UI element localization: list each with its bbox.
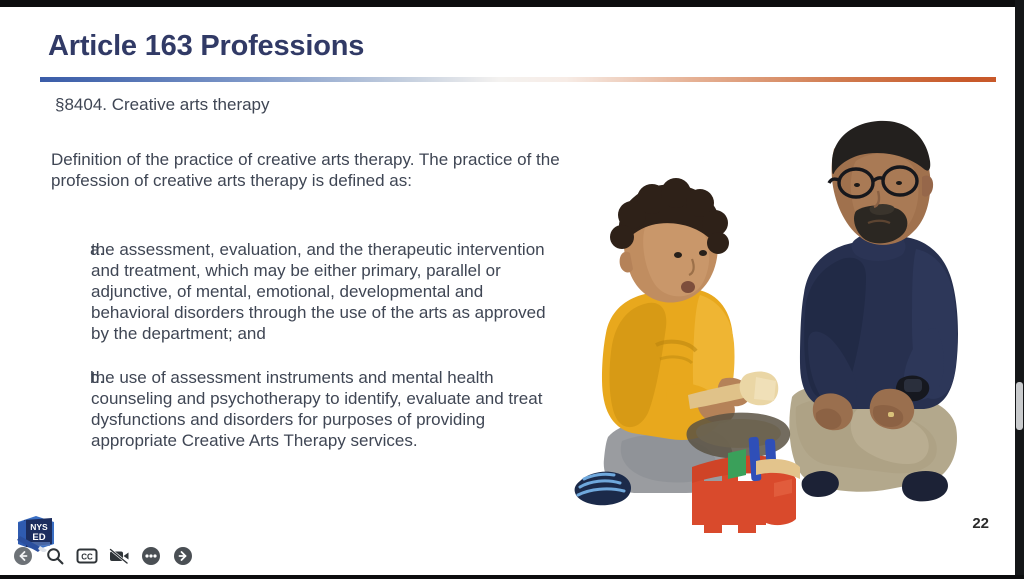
window-bottom-border [0,575,1024,579]
list-item: b. the use of assessment instruments and… [51,367,561,451]
player-toolbar: NYS ED [0,541,1024,575]
slide-photo [560,107,1000,539]
page-number: 22 [972,515,989,532]
more-options-icon[interactable] [140,545,162,567]
forward-arrow-icon[interactable] [172,545,194,567]
section-subtitle: §8404. Creative arts therapy [55,95,270,115]
camera-off-icon[interactable] [108,545,130,567]
svg-text:CC: CC [81,553,93,562]
page-title: Article 163 Professions [48,30,364,63]
definition-paragraph: Definition of the practice of creative a… [51,149,561,191]
vertical-scrollbar-thumb[interactable] [1016,382,1023,430]
logo-line1: NYS [30,522,48,532]
slide-canvas: Article 163 Professions §8404. Creative … [0,7,1015,541]
list-item: a. the assessment, evaluation, and the t… [51,239,561,344]
list-item-text: the assessment, evaluation, and the ther… [91,239,561,344]
list-item-marker: a. [51,239,91,344]
list-item-marker: b. [51,367,91,451]
closed-caption-icon[interactable]: CC [76,545,98,567]
window-top-border [0,0,1024,7]
window-right-border [1015,0,1024,579]
title-divider-rule [40,77,996,82]
definition-list: a. the assessment, evaluation, and the t… [51,239,561,474]
presentation-viewer: Article 163 Professions §8404. Creative … [0,0,1024,579]
logo-line2: ED [32,532,45,543]
nysed-logo: NYS ED [14,514,58,552]
list-item-text: the use of assessment instruments and me… [91,367,561,451]
